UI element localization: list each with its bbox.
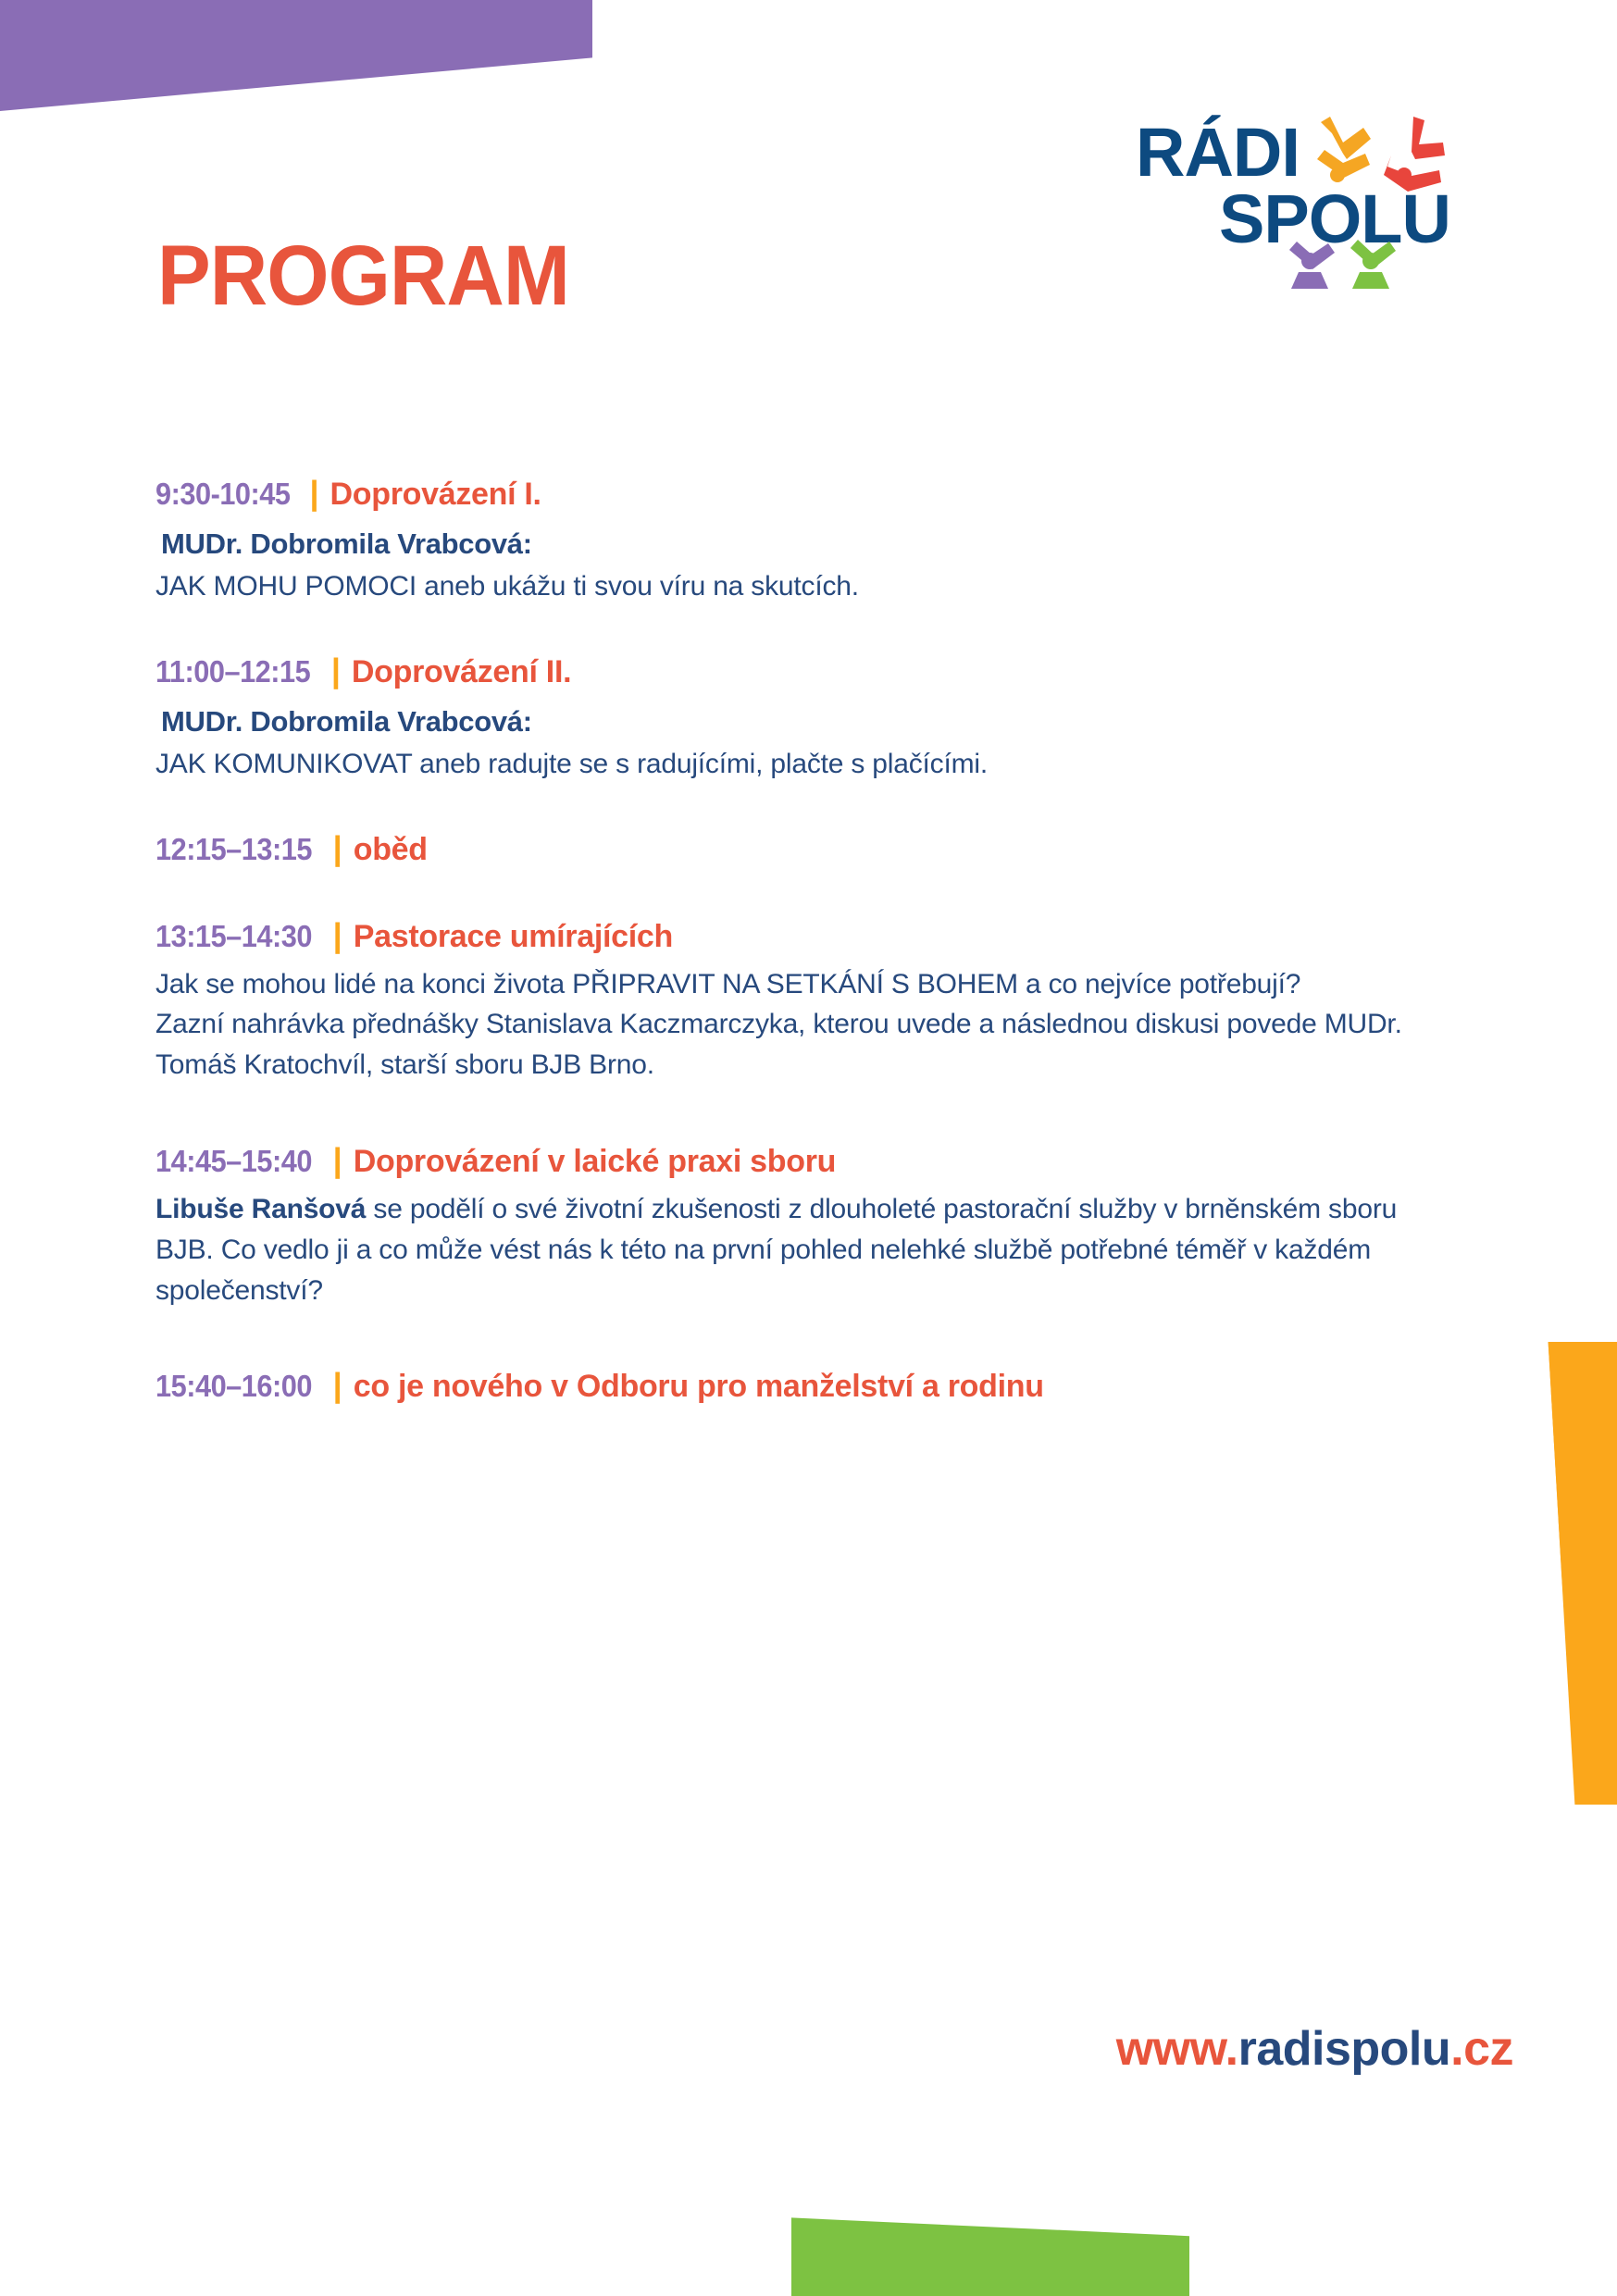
url-tld: .cz xyxy=(1450,2022,1513,2076)
program-entry: 13:15–14:30 | Pastorace umírajících Jak … xyxy=(155,916,1451,1086)
entry-time: 14:45–15:40 xyxy=(155,1144,312,1179)
program-entry: 15:40–16:00 | co je nového v Odboru pro … xyxy=(155,1366,1451,1405)
entry-time: 15:40–16:00 xyxy=(155,1369,312,1404)
entry-title: Doprovázení I. xyxy=(330,477,541,513)
purple-corner-shape xyxy=(0,0,592,111)
red-person-figure xyxy=(1384,117,1445,192)
entry-header: 13:15–14:30 | Pastorace umírajících xyxy=(155,916,1451,955)
program-entry: 14:45–15:40 | Doprovázení v laické praxi… xyxy=(155,1141,1451,1310)
entry-title: Doprovázení v laické praxi sboru xyxy=(354,1144,836,1180)
entry-time: 9:30-10:45 xyxy=(155,477,291,512)
entry-separator: | xyxy=(333,1366,342,1405)
entry-header: 11:00–12:15 | Doprovázení II. xyxy=(155,652,1451,690)
entry-speaker: MUDr. Dobromila Vrabcová: xyxy=(161,527,1451,561)
entry-separator: | xyxy=(331,652,341,690)
url-domain: radispolu xyxy=(1238,2022,1451,2076)
program-entry: 12:15–13:15 | oběd xyxy=(155,829,1451,868)
entry-speaker: MUDr. Dobromila Vrabcová: xyxy=(161,705,1451,738)
entry-body-line1: Jak se mohou lidé na konci života PŘIPRA… xyxy=(155,964,1451,1005)
program-entry: 9:30-10:45 | Doprovázení I. MUDr. Dobrom… xyxy=(155,474,1451,607)
entry-separator: | xyxy=(333,829,342,868)
entry-time: 12:15–13:15 xyxy=(155,832,312,867)
entry-separator: | xyxy=(333,916,342,955)
entry-separator: | xyxy=(333,1141,342,1180)
entry-title: oběd xyxy=(354,832,428,868)
entry-body: Libuše Ranšová se podělí o své životní z… xyxy=(155,1189,1451,1310)
program-entry: 11:00–12:15 | Doprovázení II. MUDr. Dobr… xyxy=(155,652,1451,785)
entry-body-line2: Zazní nahrávka přednášky Stanislava Kacz… xyxy=(155,1004,1451,1086)
entry-header: 9:30-10:45 | Doprovázení I. xyxy=(155,474,1451,513)
url-prefix: www. xyxy=(1116,2022,1238,2076)
poster-page: RÁDI SPOLU xyxy=(0,0,1617,2296)
program-list: 9:30-10:45 | Doprovázení I. MUDr. Dobrom… xyxy=(155,474,1451,1414)
entry-time: 11:00–12:15 xyxy=(155,654,310,689)
radispolu-logo: RÁDI SPOLU xyxy=(1126,104,1515,289)
entry-body: JAK MOHU POMOCI aneb ukážu ti svou víru … xyxy=(155,566,1451,607)
entry-title: Doprovázení II. xyxy=(352,654,571,690)
entry-header: 12:15–13:15 | oběd xyxy=(155,829,1451,868)
entry-separator: | xyxy=(309,474,318,513)
page-title: PROGRAM xyxy=(157,233,569,318)
svg-text:SPOLU: SPOLU xyxy=(1219,180,1450,257)
entry-body: JAK KOMUNIKOVAT aneb radujte se s radují… xyxy=(155,744,1451,785)
green-bottom-shape xyxy=(791,2213,1189,2296)
orange-person-figure xyxy=(1317,117,1371,182)
entry-body-lead-name: Libuše Ranšová xyxy=(155,1194,366,1224)
orange-edge-shape xyxy=(1506,1342,1617,1805)
entry-title: Pastorace umírajících xyxy=(354,919,673,955)
entry-time: 13:15–14:30 xyxy=(155,919,312,954)
website-url[interactable]: www.radispolu.cz xyxy=(1116,2021,1513,2077)
entry-title: co je nového v Odboru pro manželství a r… xyxy=(354,1369,1044,1405)
entry-header: 15:40–16:00 | co je nového v Odboru pro … xyxy=(155,1366,1451,1405)
svg-text:RÁDI: RÁDI xyxy=(1136,114,1300,191)
entry-header: 14:45–15:40 | Doprovázení v laické praxi… xyxy=(155,1141,1451,1180)
